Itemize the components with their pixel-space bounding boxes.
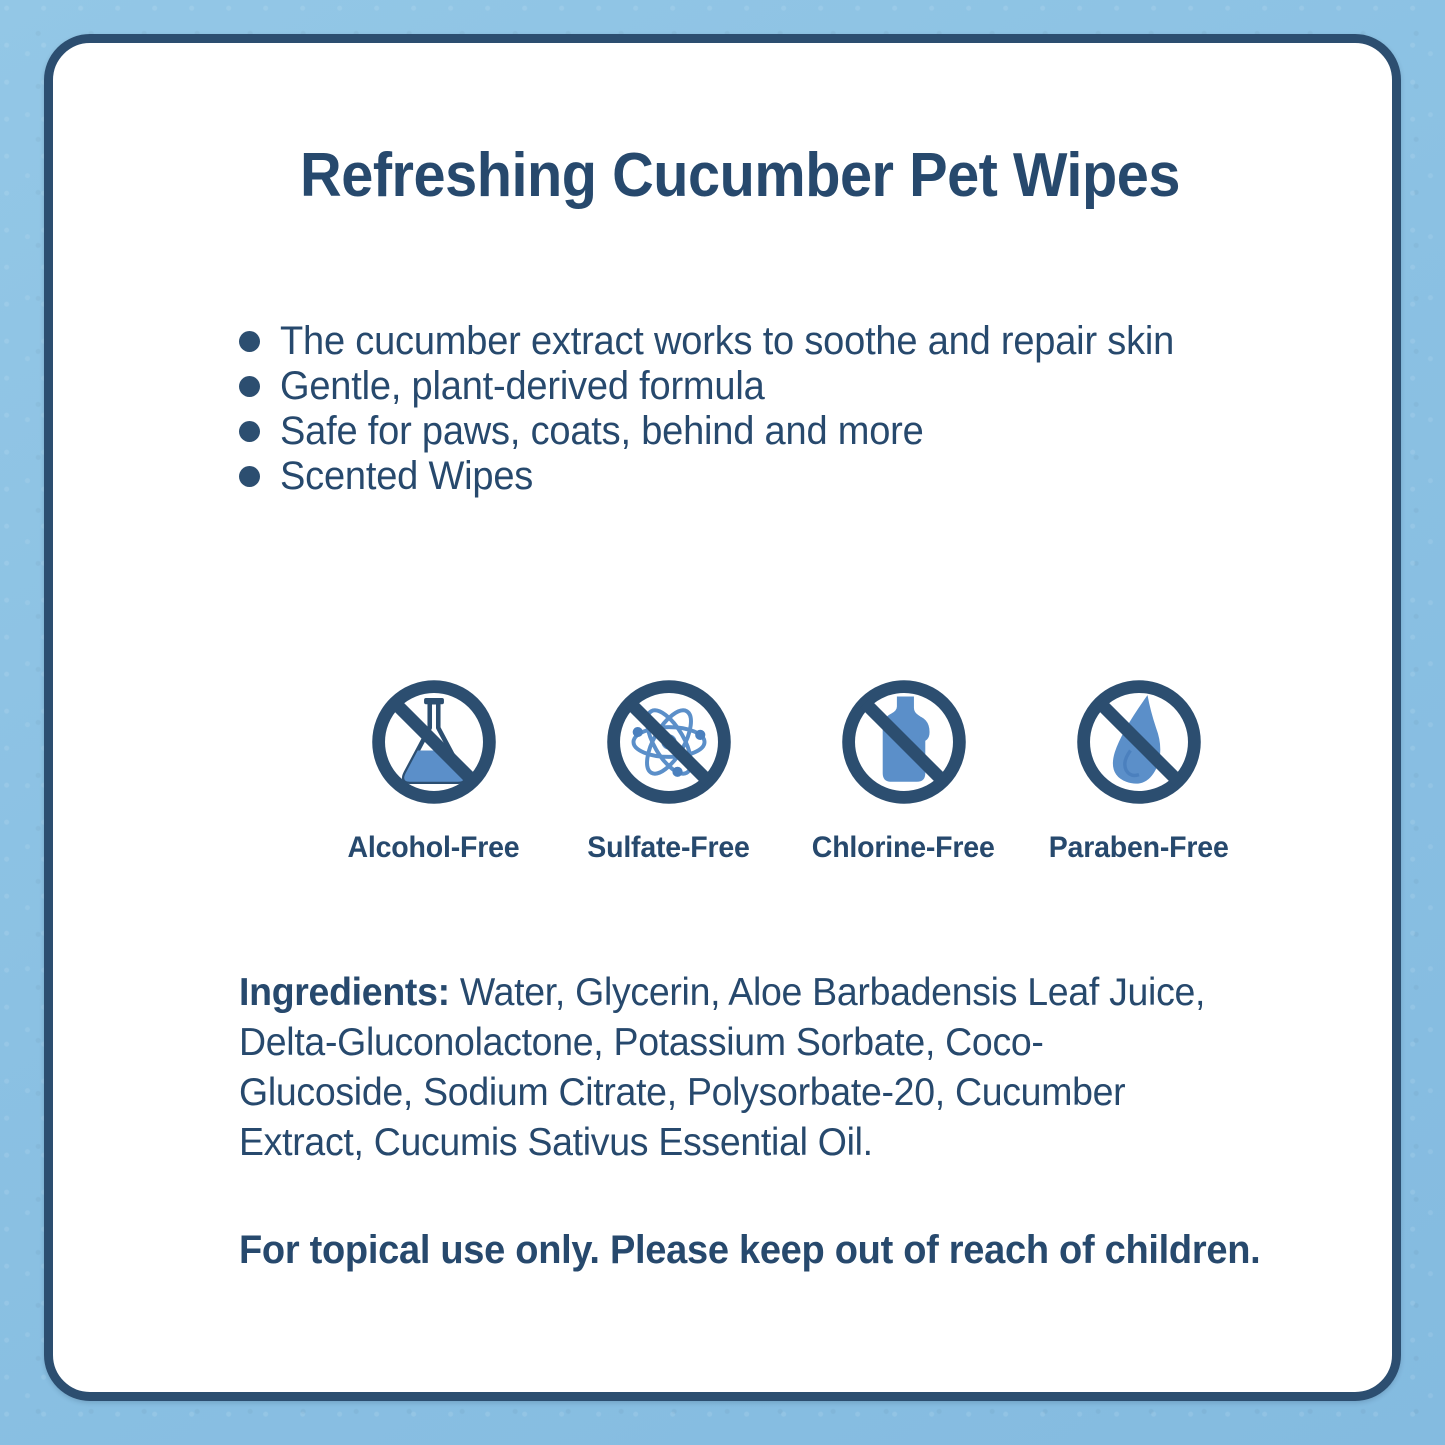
label-card: Refreshing Cucumber Pet Wipes The cucumb… [44, 34, 1401, 1401]
badge-chlorine-free: Chlorine-Free [791, 671, 1016, 865]
list-item: Gentle, plant-derived formula [239, 364, 1299, 409]
bullet-text: Safe for paws, coats, behind and more [280, 409, 924, 454]
bullet-dot-icon [239, 331, 260, 352]
badge-label: Chlorine-Free [812, 831, 995, 865]
badge-paraben-free: Paraben-Free [1026, 671, 1251, 865]
badge-sulfate-free: Sulfate-Free [556, 671, 781, 865]
bullet-dot-icon [239, 421, 260, 442]
bullet-dot-icon [239, 466, 260, 487]
label-card-inner: Refreshing Cucumber Pet Wipes The cucumb… [53, 43, 1392, 1392]
warning-text: For topical use only. Please keep out of… [239, 1228, 1246, 1273]
badge-label: Alcohol-Free [348, 831, 520, 865]
product-label-page: Refreshing Cucumber Pet Wipes The cucumb… [0, 0, 1445, 1445]
bullet-text: Scented Wipes [280, 454, 533, 499]
no-flask-icon [363, 671, 505, 813]
no-atom-icon [598, 671, 740, 813]
badge-label: Sulfate-Free [587, 831, 749, 865]
page-title: Refreshing Cucumber Pet Wipes [270, 143, 1209, 208]
feature-bullet-list: The cucumber extract works to soothe and… [239, 319, 1299, 499]
bullet-text: The cucumber extract works to soothe and… [280, 319, 1174, 364]
ingredients-paragraph: Ingredients: Water, Glycerin, Aloe Barba… [239, 968, 1209, 1168]
list-item: Scented Wipes [239, 454, 1299, 499]
no-bleach-jug-icon [833, 671, 975, 813]
list-item: The cucumber extract works to soothe and… [239, 319, 1299, 364]
list-item: Safe for paws, coats, behind and more [239, 409, 1299, 454]
bullet-text: Gentle, plant-derived formula [280, 364, 765, 409]
free-from-badge-row: Alcohol-Free [321, 671, 1251, 865]
bullet-dot-icon [239, 376, 260, 397]
ingredients-heading: Ingredients: [239, 971, 450, 1014]
badge-label: Paraben-Free [1049, 831, 1229, 865]
badge-alcohol-free: Alcohol-Free [321, 671, 546, 865]
no-droplet-icon [1068, 671, 1210, 813]
